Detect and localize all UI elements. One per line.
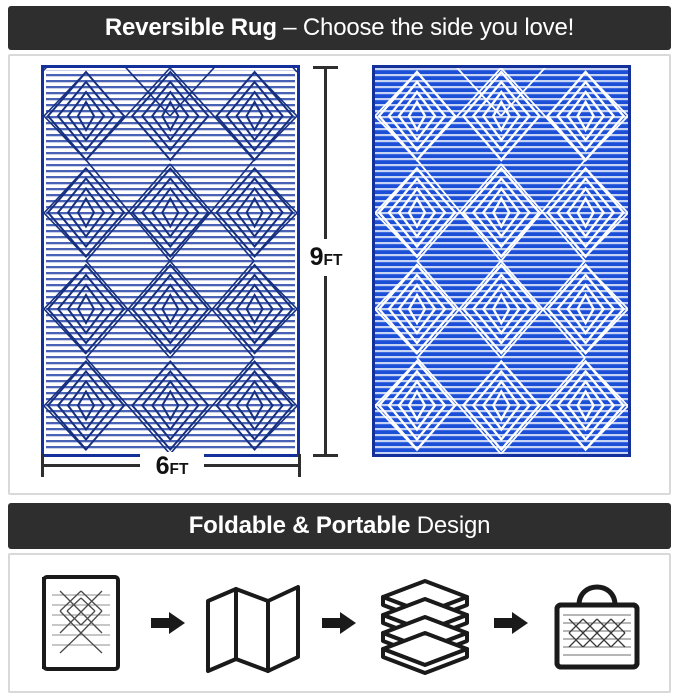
carry-bag-icon [545,571,649,675]
banner-bottom-text: Foldable & Portable Design [189,512,491,540]
flat-rug-icon [30,571,134,675]
rug-image-blue-side [372,65,631,457]
dimension-cap-left [41,454,44,477]
dimension-width-unit: FT [169,461,188,478]
dimension-width-value: 6 [156,452,170,480]
foldable-steps-row [14,559,665,687]
arrow-right-icon-1 [150,610,186,636]
banner-top-bold: Reversible Rug [105,14,277,41]
banner-top-text: Reversible Rug – Choose the side you lov… [105,14,574,42]
banner-bottom-bold: Foldable & Portable [189,512,411,539]
dimension-cap-bottom [313,454,338,457]
banner-top-rest: – Choose the side you love! [277,14,574,41]
product-infographic: Reversible Rug – Choose the side you lov… [0,0,679,699]
dimension-cap-right [298,454,301,477]
dimension-cap-top [313,66,338,69]
dimension-height-value: 9 [310,243,324,271]
dimension-height-unit: FT [323,252,342,269]
arrow-right-icon-2 [321,610,357,636]
stacked-rug-icon [373,571,477,675]
banner-bottom-rest: Design [410,512,490,539]
arrow-right-icon-3 [493,610,529,636]
dimension-label-width: 6FT [140,452,204,481]
banner-reversible-rug: Reversible Rug – Choose the side you lov… [8,6,671,50]
rug-image-white-side [41,65,300,457]
rug-pattern-blue [375,68,628,454]
banner-foldable-portable: Foldable & Portable Design [8,503,671,549]
rug-pattern-white [44,68,297,454]
dimension-label-height: 9FT [303,239,349,276]
folding-rug-icon [202,571,306,675]
